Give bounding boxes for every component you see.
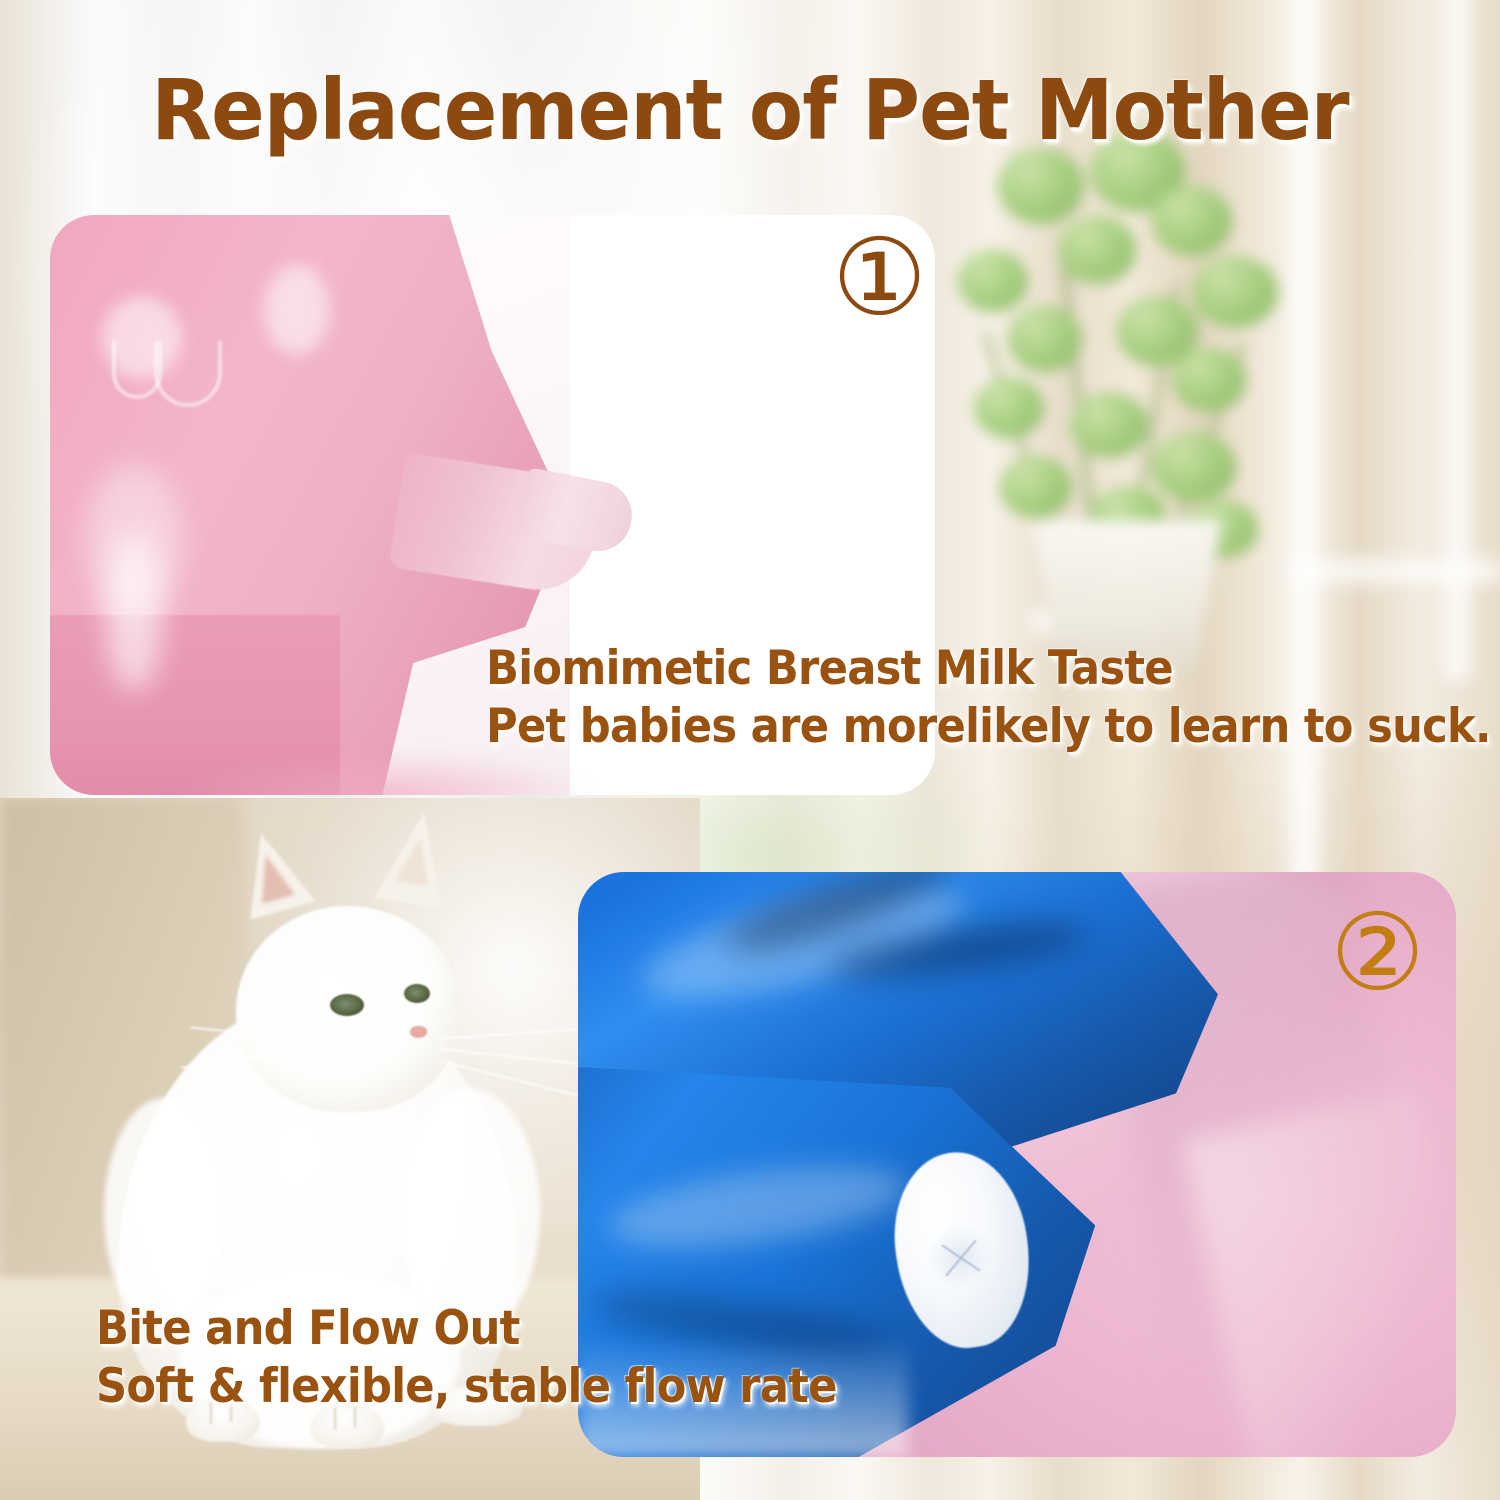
feature-line: Pet babies are morelikely to learn to su… — [486, 698, 1415, 756]
cat-eye-right — [404, 984, 430, 1003]
feature-line: Bite and Flow Out — [96, 1300, 924, 1358]
panel-2-feature-text: Bite and Flow Out Soft & flexible, stabl… — [96, 1300, 996, 1417]
cat-nose — [410, 1026, 427, 1038]
cat-eye-left — [330, 994, 364, 1016]
page-title: Replacement of Pet Mother — [45, 68, 1455, 152]
product-infographic: Replacement of Pet Mother ① Biomimetic B… — [0, 0, 1500, 1500]
step-badge-1: ① — [832, 225, 927, 331]
panel-1-feature-text: Biomimetic Breast Milk Taste Pet babies … — [486, 640, 1496, 757]
bottle-mouth-detail — [154, 341, 222, 407]
potted-plant — [940, 120, 1330, 680]
x-cut-stroke — [945, 1240, 976, 1277]
feature-line: Soft & flexible, stable flow rate — [96, 1358, 924, 1416]
feature-line: Biomimetic Breast Milk Taste — [486, 640, 1415, 698]
bottle-shadow — [170, 751, 590, 795]
step-badge-2: ② — [1330, 900, 1425, 1006]
bottle-highlight-soft — [106, 531, 162, 691]
cat-fur — [104, 1098, 224, 1328]
bottle-highlight-dot — [264, 265, 330, 355]
